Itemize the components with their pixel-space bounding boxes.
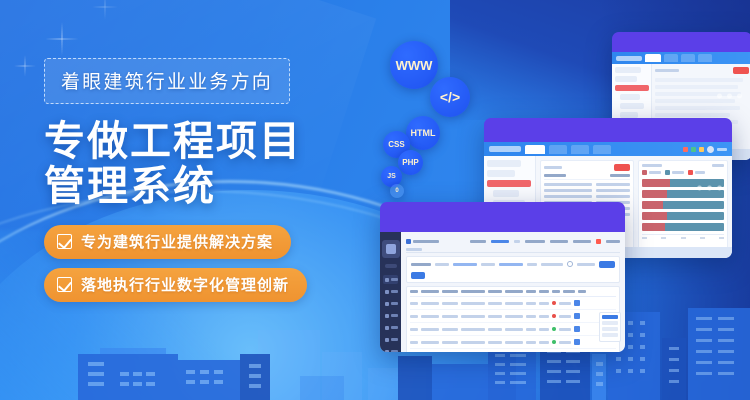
search-button[interactable] [599,261,615,268]
tech-bubble-code: </> [430,77,470,117]
tech-bubble-php: PHP [398,150,423,175]
row-action-icon[interactable] [574,339,580,345]
subtitle-box: 着眼建筑行业业务方向 [44,58,290,104]
filter-panel[interactable] [406,256,620,283]
status-badge [552,314,556,318]
tech-bubble-html: HTML [406,116,440,150]
tech-bubble-label: PHP [402,158,418,167]
tech-bubble-zero: 0 [390,184,404,198]
window-controls[interactable] [697,186,722,191]
window-controls[interactable] [590,275,615,280]
sidebar[interactable] [380,232,401,352]
alert-icon [699,147,704,152]
banner-stage: 着眼建筑行业业务方向 专做工程项目 管理系统 专为建筑行业提供解决方案 落地执行… [0,0,750,400]
chart-bar [642,212,724,220]
feature-badge-list: 专为建筑行业提供解决方案 落地执行行业数字化管理创新 [44,225,374,302]
chart-bar [642,201,724,209]
page-title: 专做工程项目 管理系统 [44,119,374,209]
app-header-bar [484,142,732,156]
bar-chart [638,160,728,254]
feature-badge[interactable]: 专为建筑行业提供解决方案 [44,225,291,259]
status-badge [552,340,556,344]
tech-bubble-label: HTML [411,128,436,138]
table-footer [410,349,616,352]
subtitle-text: 着眼建筑行业业务方向 [61,67,273,94]
banner-copy: 着眼建筑行业业务方向 专做工程项目 管理系统 专为建筑行业提供解决方案 落地执行… [44,58,374,311]
table-row[interactable] [410,297,616,310]
tech-bubble-label: 0 [395,188,398,194]
app-logo-icon [382,240,400,258]
sidebar-item[interactable] [383,275,398,284]
breadcrumb [406,246,620,253]
avatar [707,146,714,153]
feature-badge[interactable]: 落地执行行业数字化管理创新 [44,268,307,302]
window-title-bar [380,202,625,232]
notification-icon [596,239,601,244]
dashboard-window-front[interactable] [380,202,625,352]
sidebar-item[interactable] [383,335,398,344]
table-row[interactable] [410,323,616,336]
checkbox-check-icon [57,234,72,249]
content-pane [401,232,625,352]
sidebar-item[interactable] [383,311,398,320]
message-icon [691,147,696,152]
sidebar-toggle-icon[interactable] [385,264,397,268]
sidebar-item[interactable] [383,287,398,296]
tech-bubble-www: WWW [390,41,438,89]
tech-bubble-label: WWW [396,58,433,73]
status-badge [552,327,556,331]
sidebar-item[interactable] [383,347,398,352]
row-action-icon[interactable] [574,300,580,306]
table-row[interactable] [410,336,616,349]
tech-bubble-label: JS [387,173,396,180]
headline-line-1: 专做工程项目 [44,119,374,164]
chart-bar [642,190,724,198]
headline-line-2: 管理系统 [44,164,374,209]
row-action-icon[interactable] [574,313,580,319]
window-body [380,232,625,352]
status-badge [552,301,556,305]
sidebar-item[interactable] [383,299,398,308]
data-table[interactable] [406,286,620,352]
notification-icon [683,147,688,152]
sidebar-nav[interactable] [380,275,401,352]
checkbox-check-icon [57,277,72,292]
feature-badge-label: 专为建筑行业提供解决方案 [81,231,273,252]
tech-bubble-label: </> [440,89,460,105]
sidebar-item[interactable] [383,323,398,332]
tech-bubble-label: CSS [388,140,404,149]
window-title-bar [612,32,750,52]
app-header-bar [612,52,750,64]
dropdown-menu[interactable] [599,312,621,342]
add-button[interactable] [411,272,425,279]
window-title-bar [484,118,732,142]
feature-badge-label: 落地执行行业数字化管理创新 [81,274,289,295]
top-nav[interactable] [470,239,620,244]
chart-x-axis [642,234,724,239]
window-controls[interactable] [717,94,742,99]
chart-bar [642,223,724,231]
brand [406,239,439,244]
table-row[interactable] [410,310,616,323]
top-bar [406,236,620,246]
row-action-icon[interactable] [574,326,580,332]
help-icon [567,261,573,267]
chart-legend [642,170,724,175]
table-header-row [410,290,616,297]
